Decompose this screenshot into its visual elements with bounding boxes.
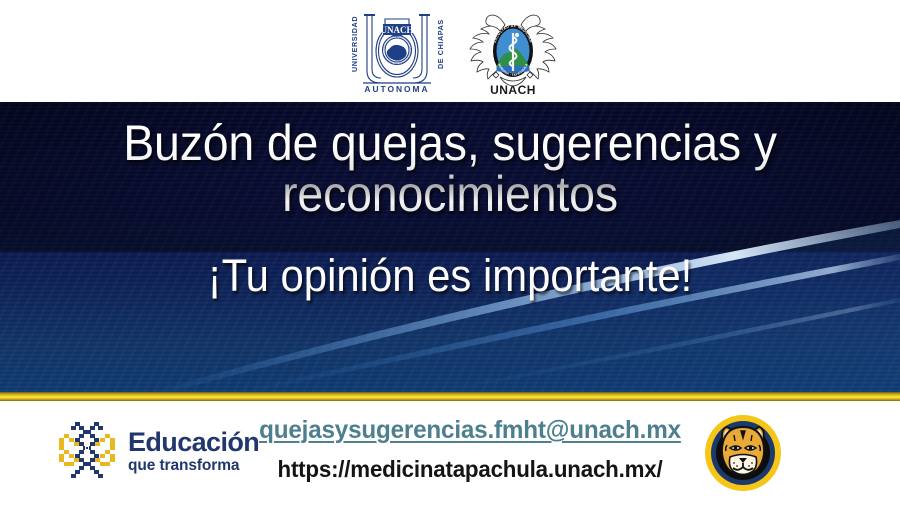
email-link[interactable]: quejasysugerencias.fmht@unach.mx: [257, 416, 684, 445]
website-url[interactable]: https://medicinatapachula.unach.mx/: [257, 456, 684, 483]
header-logo-band: UNACH POR LA CONCIENCIA DE LA NECESIDAD …: [0, 0, 900, 102]
chiapas-state-shape: [387, 45, 407, 61]
gold-divider: [0, 392, 900, 401]
page-title-line-1: Buzón de quejas, sugerencias y: [123, 115, 777, 171]
jaguar-mascot-logo: [703, 413, 783, 493]
page-subtitle: ¡Tu opinión es importante!: [32, 250, 869, 302]
educacion-que-transforma-logo: Educación que transforma: [55, 418, 259, 484]
svg-text:UNACH: UNACH: [381, 25, 414, 35]
facultad-medicina-logo: FACULTAD DE MEDICINA HUMANA · TAPACHULA …: [467, 7, 559, 95]
educacion-wordmark: Educación que transforma: [128, 429, 259, 474]
page-title-line-2: reconocimientos: [282, 166, 618, 222]
page-title: Buzón de quejas, sugerencias y reconocim…: [32, 118, 869, 220]
educacion-line-2: que transforma: [128, 458, 259, 474]
unach-shield-logo: UNACH POR LA CONCIENCIA DE LA NECESIDAD …: [341, 9, 453, 93]
contact-block: quejasysugerencias.fmht@unach.mx https:/…: [250, 416, 690, 483]
poster-root: UNACH POR LA CONCIENCIA DE LA NECESIDAD …: [0, 0, 900, 506]
unach-autonoma-text: AUTONOMA: [364, 84, 429, 93]
unach-right-vertical-text: DE CHIAPAS: [436, 19, 445, 69]
hero-title-block: Buzón de quejas, sugerencias y reconocim…: [0, 118, 900, 220]
educacion-line-1: Educación: [128, 429, 259, 456]
unach-left-vertical-text: UNIVERSIDAD: [350, 16, 359, 72]
hero-panel: Buzón de quejas, sugerencias y reconocim…: [0, 102, 900, 392]
facultad-medicina-acronym: UNACH: [490, 83, 536, 95]
educacion-glyph-icon: [55, 418, 119, 484]
